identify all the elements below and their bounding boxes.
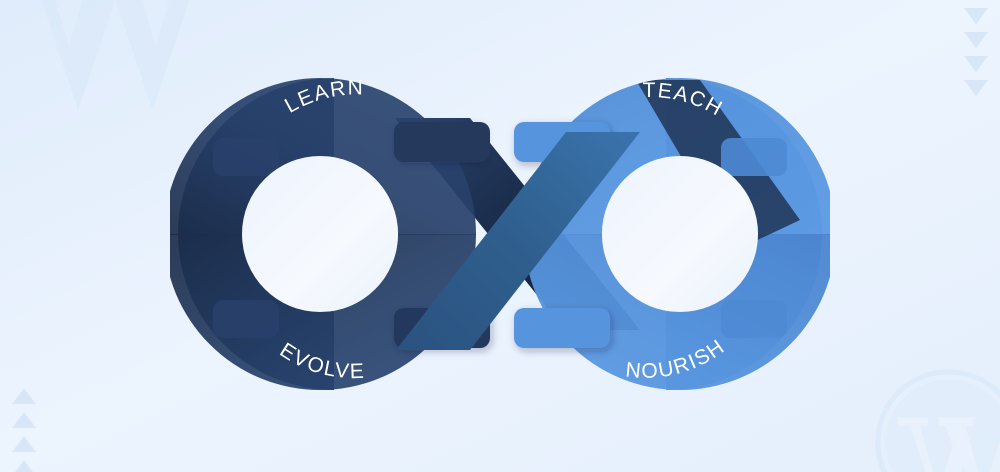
crossing-wedge-left-lower [396,286,470,350]
tab-right-lower [721,300,787,338]
loop-right-hole [602,156,758,312]
loop-left-hole [242,156,398,312]
graphic-canvas: LEARN TEACH EVOLVE NOURISH [0,0,1000,472]
tab-left-lower [213,300,279,338]
infinity-ribbon-graphic: LEARN TEACH EVOLVE NOURISH [0,0,1000,472]
tab-right-upper [721,138,787,176]
tab-left-upper [213,138,279,176]
tab-learn [394,122,490,162]
